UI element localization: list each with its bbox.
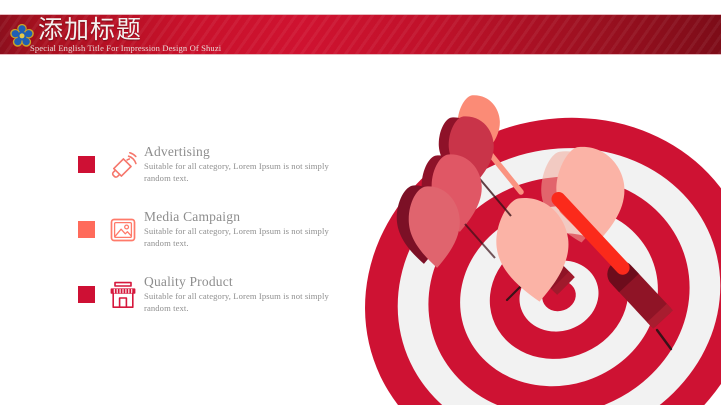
page-subtitle: Special English Title For Impression Des… [30,43,221,54]
megaphone-icon [108,150,138,180]
bullet-square [78,221,95,238]
feature-list: Advertising Suitable for all category, L… [0,140,380,335]
feature-text-block: Quality Product Suitable for all categor… [144,274,349,314]
bullet-square [78,156,95,173]
feature-title: Media Campaign [144,209,349,225]
list-item[interactable]: Advertising Suitable for all category, L… [0,140,380,205]
shop-icon [108,280,138,310]
bullet-square [78,286,95,303]
dartboard-illustration [361,0,721,405]
list-item[interactable]: Media Campaign Suitable for all category… [0,205,380,270]
feature-description: Suitable for all category, Lorem Ipsum i… [144,226,349,249]
feature-description: Suitable for all category, Lorem Ipsum i… [144,291,349,314]
page-title: 添加标题 [38,15,142,45]
feature-text-block: Media Campaign Suitable for all category… [144,209,349,249]
presentation-slide: 添加标题 Special English Title For Impressio… [0,0,721,405]
feature-title: Advertising [144,144,349,160]
image-icon [108,215,138,245]
list-item[interactable]: Quality Product Suitable for all categor… [0,270,380,335]
feature-description: Suitable for all category, Lorem Ipsum i… [144,161,349,184]
feature-text-block: Advertising Suitable for all category, L… [144,144,349,184]
feature-title: Quality Product [144,274,349,290]
